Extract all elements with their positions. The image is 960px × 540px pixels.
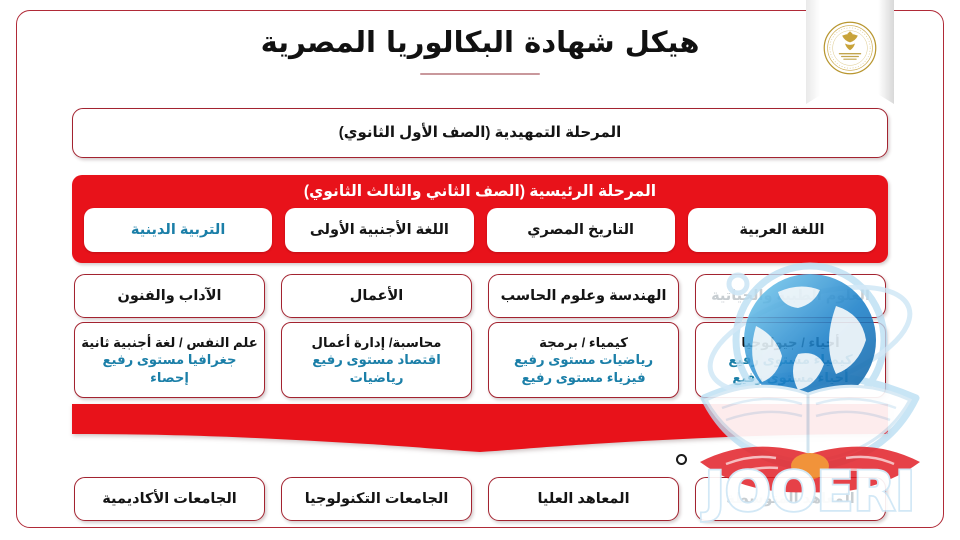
core-subject-label: التربية الدينية: [131, 221, 225, 239]
track-detail-line: كيمياء / برمجة: [539, 334, 628, 352]
outcome-box[interactable]: المعاهد المتوسطة: [695, 477, 886, 521]
track-detail-box[interactable]: محاسبة/ إدارة أعمال اقتصاد مستوى رفيع ري…: [281, 322, 472, 398]
page-title-block: هيكل شهادة البكالوريا المصرية: [40, 26, 920, 75]
track-detail-line: رياضيات مستوى رفيع: [514, 351, 653, 369]
red-down-arrow-banner: [72, 404, 888, 452]
diagram-page: هيكل شهادة البكالوريا المصرية المرحلة ال…: [0, 0, 960, 540]
core-subjects-row: اللغة العربية التاريخ المصري اللغة الأجن…: [84, 208, 876, 252]
page-title: هيكل شهادة البكالوريا المصرية: [40, 26, 920, 59]
outcome-box[interactable]: الجامعات الأكاديمية: [74, 477, 265, 521]
track-detail-line: جغرافيا مستوى رفيع: [103, 351, 237, 369]
track-box[interactable]: الآداب والفنون: [74, 274, 265, 318]
track-label: الأعمال: [350, 287, 403, 305]
track-details-row: أحياء / جيولوجيا كيمياء مستوى رفيع أحياء…: [74, 322, 886, 398]
banner-connector-dot: [676, 454, 687, 465]
track-label: الآداب والفنون: [117, 287, 221, 305]
track-detail-box[interactable]: أحياء / جيولوجيا كيمياء مستوى رفيع أحياء…: [695, 322, 886, 398]
track-detail-line: أحياء / جيولوجيا: [741, 334, 839, 352]
track-detail-line: فيزياء مستوى رفيع: [521, 369, 645, 387]
core-subject-box[interactable]: اللغة الأجنبية الأولى: [285, 208, 473, 252]
outcome-label: المعاهد المتوسطة: [726, 490, 855, 508]
track-detail-line: كيمياء مستوى رفيع: [728, 351, 852, 369]
track-label: العلوم الطبية والحياتية: [711, 287, 870, 305]
core-subject-box[interactable]: التاريخ المصري: [487, 208, 675, 252]
track-box[interactable]: الأعمال: [281, 274, 472, 318]
track-detail-line: أحياء مستوى رفيع: [732, 369, 848, 387]
title-divider: [420, 73, 540, 75]
core-subject-box[interactable]: التربية الدينية: [84, 208, 272, 252]
core-subject-label: اللغة العربية: [739, 221, 824, 239]
outcome-box[interactable]: الجامعات التكنولوجيا: [281, 477, 472, 521]
core-subject-label: التاريخ المصري: [527, 221, 634, 239]
outcome-box[interactable]: المعاهد العليا: [488, 477, 679, 521]
core-subject-box[interactable]: اللغة العربية: [688, 208, 876, 252]
preparatory-stage-box: المرحلة التمهيدية (الصف الأول الثانوي): [72, 108, 888, 158]
track-detail-line: إحصاء: [150, 369, 189, 387]
tracks-row: العلوم الطبية والحياتية الهندسة وعلوم ال…: [74, 274, 886, 318]
main-stage-panel: المرحلة الرئيسية (الصف الثاني والثالث ال…: [72, 175, 888, 263]
track-label: الهندسة وعلوم الحاسب: [501, 287, 667, 305]
track-box[interactable]: العلوم الطبية والحياتية: [695, 274, 886, 318]
outcome-label: الجامعات التكنولوجيا: [305, 490, 449, 508]
track-box[interactable]: الهندسة وعلوم الحاسب: [488, 274, 679, 318]
outcome-label: المعاهد العليا: [537, 490, 629, 508]
outcome-label: الجامعات الأكاديمية: [102, 490, 236, 508]
main-stage-title: المرحلة الرئيسية (الصف الثاني والثالث ال…: [72, 182, 888, 201]
track-detail-line: علم النفس / لغة أجنبية ثانية: [81, 334, 258, 352]
track-detail-line: اقتصاد مستوى رفيع: [312, 351, 441, 369]
track-detail-line: محاسبة/ إدارة أعمال: [312, 334, 442, 352]
track-detail-box[interactable]: كيمياء / برمجة رياضيات مستوى رفيع فيزياء…: [488, 322, 679, 398]
outcomes-row: المعاهد المتوسطة المعاهد العليا الجامعات…: [74, 477, 886, 521]
core-subject-label: اللغة الأجنبية الأولى: [310, 221, 449, 239]
track-detail-box[interactable]: علم النفس / لغة أجنبية ثانية جغرافيا مست…: [74, 322, 265, 398]
preparatory-stage-label: المرحلة التمهيدية (الصف الأول الثانوي): [339, 124, 622, 143]
track-detail-line: رياضيات: [350, 369, 404, 387]
